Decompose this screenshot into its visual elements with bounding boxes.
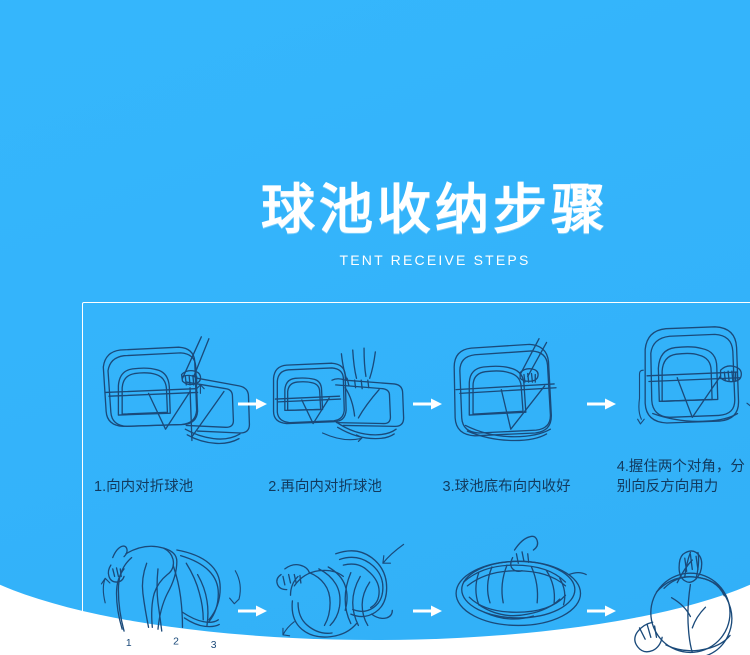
page-title: 球池收纳步骤 (60, 178, 750, 242)
illustration-ball-pit-hold-corners (615, 308, 750, 455)
step-panel-8: 8.把球池装入收纳袋 (605, 509, 750, 655)
step-panel-6: 6.继续相反方向用力， 使球池绕城3个圆 (256, 509, 430, 655)
steps-grid: 1.向内对折球池 (82, 302, 750, 655)
step-panel-7: 7.把球池固定在一个 平面 (431, 509, 605, 655)
page-subtitle: TENT RECEIVE STEPS (60, 250, 750, 270)
illustration-ball-pit-in-storage-bag (615, 515, 750, 655)
step-caption-1: 1.向内对折球池 (92, 475, 252, 507)
step-panel-5: 1 2 3 5.反方向用力，球池 绕成“8”字 (82, 509, 256, 655)
illustration-ball-pit-bottom-tucked (441, 308, 601, 475)
step-panel-4: 4.握住两个对角，分 别向反方向用力 (605, 302, 750, 509)
step5-label-1: 1 (126, 638, 132, 649)
step-caption-2: 2.再向内对折球池 (266, 475, 426, 507)
step5-label-3: 3 (211, 640, 217, 651)
step-panel-2: 2.再向内对折球池 (256, 302, 430, 509)
illustration-ball-pit-folded-inward (92, 308, 252, 475)
illustration-ball-pit-three-circles (266, 515, 426, 655)
infographic-page: 球池收纳步骤 TENT RECEIVE STEPS (0, 0, 750, 655)
illustration-ball-pit-folded-again (266, 308, 426, 475)
step5-label-2: 2 (173, 636, 179, 647)
illustration-ball-pit-figure-eight: 1 2 3 (92, 515, 252, 655)
step-caption-4: 4.握住两个对角，分 别向反方向用力 (615, 455, 750, 507)
step-caption-3: 3.球池底布向内收好 (441, 475, 601, 507)
illustration-ball-pit-flat-circle (441, 515, 601, 655)
step-panel-3: 3.球池底布向内收好 (431, 302, 605, 509)
banner-content: 球池收纳步骤 TENT RECEIVE STEPS (60, 160, 750, 655)
step-panel-1: 1.向内对折球池 (82, 302, 256, 509)
